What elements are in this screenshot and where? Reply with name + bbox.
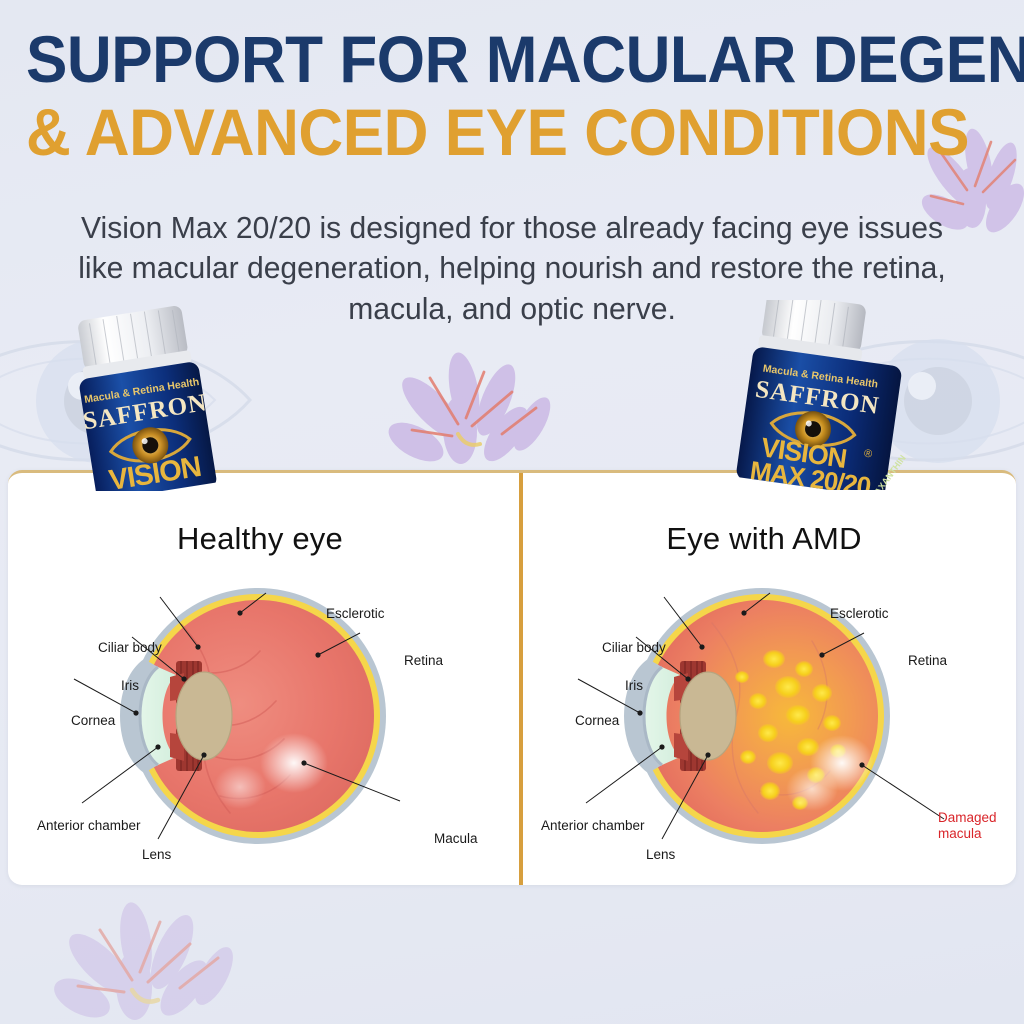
label-cornea-amd: Cornea xyxy=(575,713,619,729)
label-esclerotic-healthy: Esclerotic xyxy=(326,606,385,622)
subcopy-line-1: Vision Max 20/20 is designed for those a… xyxy=(41,208,984,248)
headline-line-2: & ADVANCED EYE CONDITIONS xyxy=(26,101,947,164)
subcopy-line-3: macula, and optic nerve. xyxy=(41,289,984,329)
label-iris-amd: Iris xyxy=(625,678,643,694)
svg-text:®: ® xyxy=(863,448,873,461)
label-cornea-healthy: Cornea xyxy=(71,713,115,729)
label-retina-healthy: Retina xyxy=(404,653,443,669)
panel-half-amd: Eye with AMD xyxy=(512,473,1016,885)
label-ciliar-body-amd: Ciliar body xyxy=(602,640,666,656)
label-anterior-chamber-healthy: Anterior chamber xyxy=(37,818,141,834)
label-ciliar-body-healthy: Ciliar body xyxy=(98,640,162,656)
subcopy-line-2: like macular degeneration, helping nouri… xyxy=(41,248,984,288)
label-esclerotic-amd: Esclerotic xyxy=(830,606,889,622)
panel-half-healthy: Healthy eye xyxy=(8,473,512,885)
saffron-flower-center xyxy=(372,338,562,478)
label-macula-healthy: Macula xyxy=(434,831,478,847)
saffron-flower-bottomleft xyxy=(38,892,248,1024)
label-retina-amd: Retina xyxy=(908,653,947,669)
panel-divider xyxy=(519,473,523,885)
headline-line-1: SUPPORT FOR MACULAR DEGENERATION xyxy=(26,28,947,91)
label-anterior-chamber-amd: Anterior chamber xyxy=(541,818,645,834)
label-lens-amd: Lens xyxy=(646,847,675,863)
label-iris-healthy: Iris xyxy=(121,678,139,694)
product-bottle-left: Macula & Retina Health SAFFRON VISION xyxy=(48,306,263,491)
subcopy-paragraph: Vision Max 20/20 is designed for those a… xyxy=(15,208,1008,329)
label-damaged-macula: Damaged macula xyxy=(938,810,1010,842)
label-lens-healthy: Lens xyxy=(142,847,171,863)
headline-block: SUPPORT FOR MACULAR DEGENERATION & ADVAN… xyxy=(26,28,1006,165)
comparison-panel: Healthy eye xyxy=(8,470,1016,885)
